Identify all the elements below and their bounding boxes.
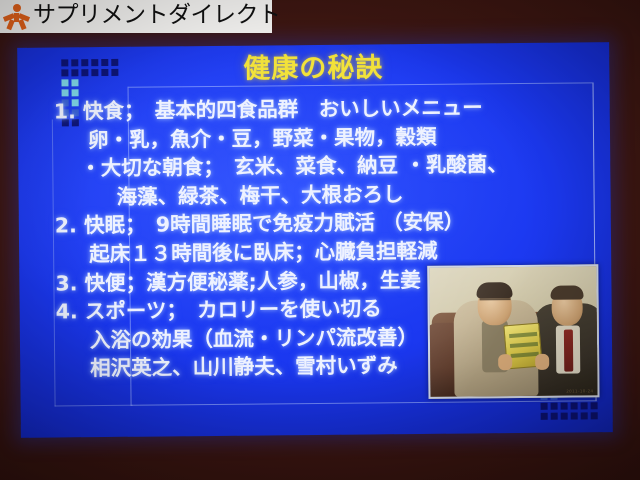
brand-name: サプリメントダイレクト (33, 4, 281, 29)
projector-screen-photo: サプリメントダイレクト 健康の秘訣 1. 快食； 基本的四食品群 おいしいメニュ… (0, 0, 640, 480)
brand-banner: サプリメントダイレクト (0, 0, 272, 33)
person-figure-icon (3, 3, 30, 30)
slide-photo: 2011-10-24 (427, 264, 599, 399)
slide-title: 健康の秘訣 (17, 51, 609, 86)
slide-frame-bottom-rule (55, 405, 133, 407)
photo-glare (429, 266, 597, 397)
presentation-slide: 健康の秘訣 1. 快食； 基本的四食品群 おいしいメニュー 卵・乳，魚介・豆，野… (17, 42, 613, 438)
